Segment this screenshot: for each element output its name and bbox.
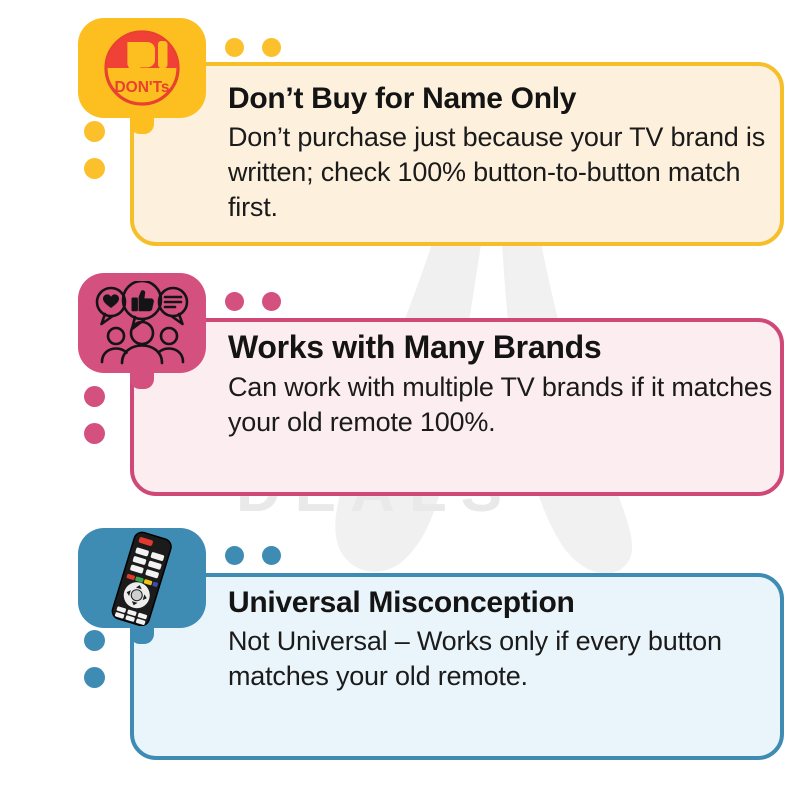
- decorative-dot: [225, 38, 244, 57]
- badge-label: DON'Ts: [114, 79, 169, 96]
- card-body: Can work with multiple TV brands if it m…: [228, 370, 774, 440]
- card-title: Universal Misconception: [228, 586, 774, 620]
- decorative-dot: [84, 158, 105, 179]
- decorative-dot: [225, 546, 244, 565]
- decorative-dot: [84, 121, 105, 142]
- decorative-dot: [84, 630, 105, 651]
- decorative-dot: [84, 423, 105, 444]
- people-feedback-thumbs-up-icon: [78, 273, 206, 373]
- card-title: Don’t Buy for Name Only: [228, 82, 768, 116]
- decorative-dot: [84, 386, 105, 407]
- card-body: Don’t purchase just because your TV bran…: [228, 120, 768, 225]
- card-title: Works with Many Brands: [228, 330, 774, 366]
- card-text-wrapper: Universal Misconception Not Universal – …: [228, 586, 774, 694]
- card-text-wrapper: Works with Many Brands Can work with mul…: [228, 330, 774, 440]
- badge-tail: [130, 112, 154, 134]
- donts-thumbs-down-badge-icon: DON'Ts: [78, 18, 206, 118]
- decorative-dot: [262, 546, 281, 565]
- tv-remote-control-icon: [78, 528, 206, 628]
- decorative-dot: [225, 292, 244, 311]
- decorative-dot: [262, 292, 281, 311]
- infographic-stage: DEALS DON'Ts Don’: [0, 0, 800, 800]
- card-body: Not Universal – Works only if every butt…: [228, 624, 774, 694]
- badge-tail: [130, 367, 154, 389]
- decorative-dot: [262, 38, 281, 57]
- decorative-dot: [84, 667, 105, 688]
- card-text-wrapper: Don’t Buy for Name Only Don’t purchase j…: [228, 82, 768, 225]
